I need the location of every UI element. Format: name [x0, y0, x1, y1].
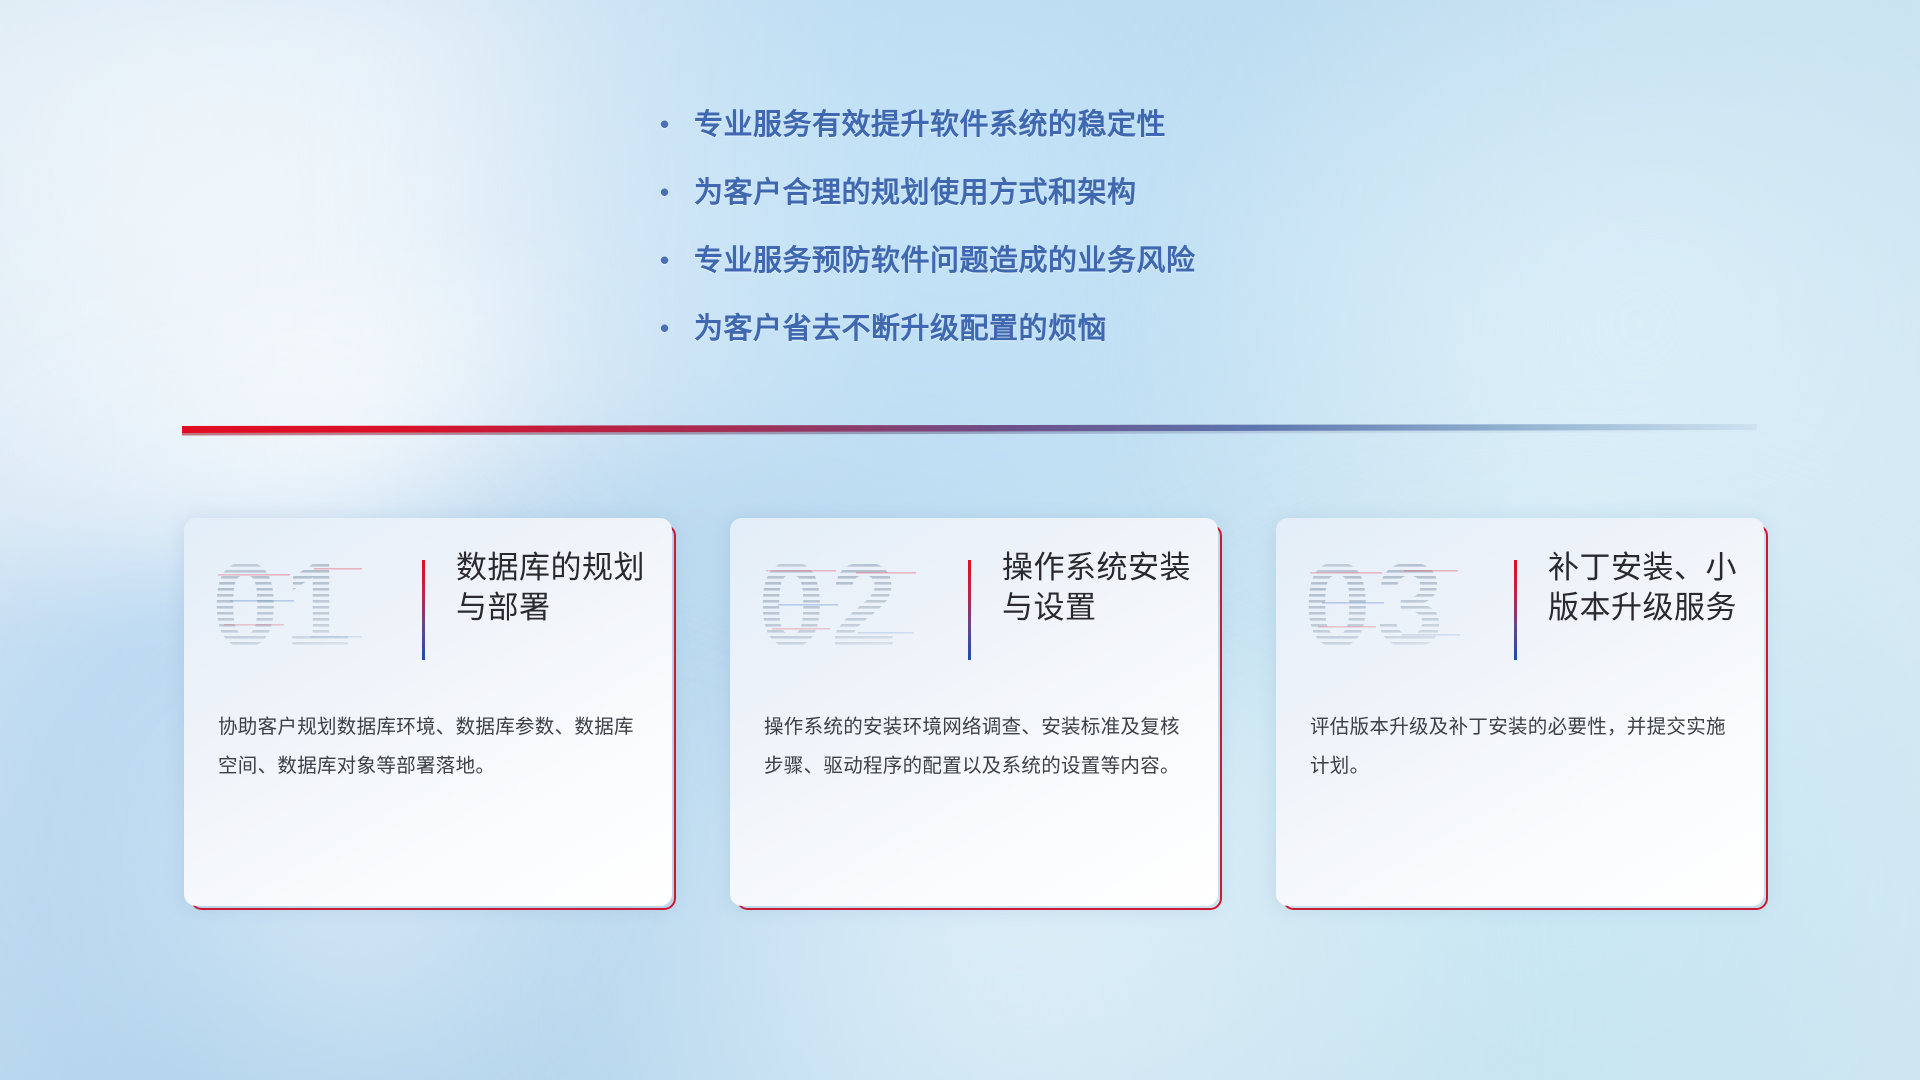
- card-surface: 01 数据库的规划与部署: [184, 518, 672, 906]
- service-card[interactable]: 02 操作系统安装与设置: [730, 518, 1218, 906]
- card-title: 补丁安装、小版本升级服务: [1548, 548, 1748, 629]
- card-surface: 03 补丁安装、小版本升级服务: [1276, 518, 1764, 906]
- cards-row: 01 数据库的规划与部署: [184, 518, 1764, 906]
- bullet-item: • 专业服务有效提升软件系统的稳定性: [660, 108, 1480, 144]
- bullet-dot-icon: •: [660, 312, 694, 346]
- svg-text:01: 01: [212, 540, 357, 672]
- bullet-list: • 专业服务有效提升软件系统的稳定性 • 为客户合理的规划使用方式和架构 • 专…: [660, 108, 1480, 348]
- bullet-text: 专业服务预防软件问题造成的业务风险: [694, 244, 1480, 280]
- card-header: 03 补丁安装、小版本升级服务: [1276, 546, 1764, 676]
- card-accent-bar: [1514, 560, 1517, 660]
- svg-text:02: 02: [758, 540, 903, 672]
- bullet-item: • 专业服务预防软件问题造成的业务风险: [660, 244, 1480, 280]
- card-number-01-icon: 01: [210, 540, 400, 672]
- svg-text:03: 03: [1304, 540, 1449, 672]
- bullet-text: 为客户省去不断升级配置的烦恼: [694, 312, 1480, 348]
- bullet-text: 为客户合理的规划使用方式和架构: [694, 176, 1480, 212]
- card-description: 协助客户规划数据库环境、数据库参数、数据库空间、数据库对象等部署落地。: [218, 708, 638, 787]
- bullet-text: 专业服务有效提升软件系统的稳定性: [694, 108, 1480, 144]
- card-title: 数据库的规划与部署: [456, 548, 656, 629]
- card-accent-bar: [968, 560, 971, 660]
- card-header: 02 操作系统安装与设置: [730, 546, 1218, 676]
- card-accent-bar: [422, 560, 425, 660]
- card-surface: 02 操作系统安装与设置: [730, 518, 1218, 906]
- card-description: 操作系统的安装环境网络调查、安装标准及复核步骤、驱动程序的配置以及系统的设置等内…: [764, 708, 1184, 787]
- bullet-item: • 为客户省去不断升级配置的烦恼: [660, 312, 1480, 348]
- bullet-dot-icon: •: [660, 108, 694, 142]
- card-description: 评估版本升级及补丁安装的必要性，并提交实施计划。: [1310, 708, 1740, 787]
- bullet-item: • 为客户合理的规划使用方式和架构: [660, 176, 1480, 212]
- bullet-dot-icon: •: [660, 244, 694, 278]
- card-number-03-icon: 03: [1302, 540, 1492, 672]
- section-divider: [182, 424, 1757, 438]
- bullet-dot-icon: •: [660, 176, 694, 210]
- card-title: 操作系统安装与设置: [1002, 548, 1202, 629]
- card-header: 01 数据库的规划与部署: [184, 546, 672, 676]
- service-card[interactable]: 03 补丁安装、小版本升级服务: [1276, 518, 1764, 906]
- service-card[interactable]: 01 数据库的规划与部署: [184, 518, 672, 906]
- card-number-02-icon: 02: [756, 540, 946, 672]
